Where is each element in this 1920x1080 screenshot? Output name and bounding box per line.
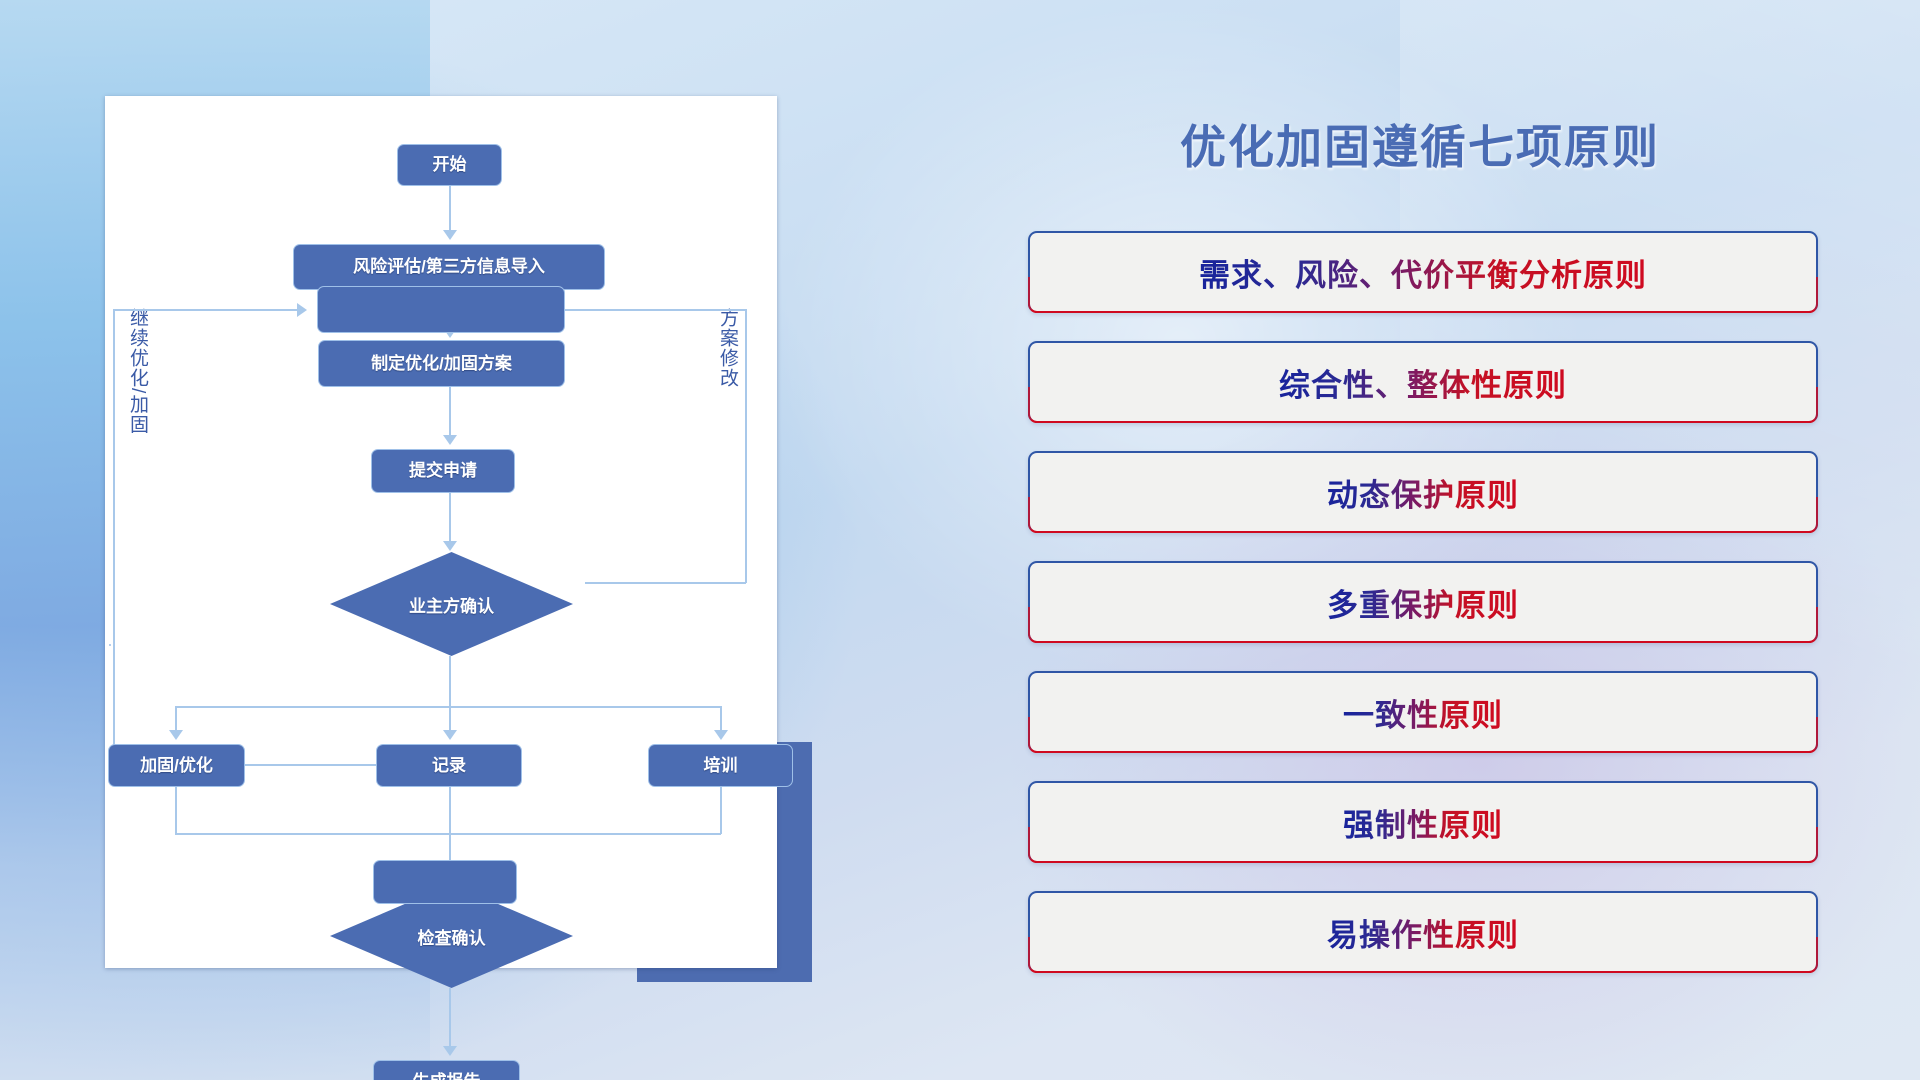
flow-node-training[interactable]: 培训 xyxy=(648,744,793,787)
principle-item-3[interactable]: 动态保护原则 xyxy=(1028,451,1818,533)
flowchart-card: 继续优化/加固 方案修改 开始 风险评估/第三方信息导入 xyxy=(105,96,777,968)
flow-node-make-plan[interactable]: 制定优化/加固方案 xyxy=(318,340,565,387)
principle-item-3-label: 动态保护原则 xyxy=(1327,470,1519,515)
edge-fanout-right-arrow xyxy=(714,730,728,740)
edge-fanin-center xyxy=(449,787,451,834)
flow-node-start[interactable]: 开始 xyxy=(397,144,502,186)
principle-item-1[interactable]: 需求、风险、代价平衡分析原则 xyxy=(1028,231,1818,313)
edge-submit-owner-arrow xyxy=(443,541,457,551)
slide-canvas: 继续优化/加固 方案修改 开始 风险评估/第三方信息导入 xyxy=(0,0,1920,1080)
flow-node-owner-confirm[interactable]: 业主方确认 xyxy=(330,552,573,656)
flow-node-make-plan-label: 制定优化/加固方案 xyxy=(371,354,512,374)
principle-item-7[interactable]: 易操作性原则 xyxy=(1028,891,1818,973)
principle-item-5[interactable]: 一致性原则 xyxy=(1028,671,1818,753)
panel-title: 优化加固遵循七项原则 xyxy=(1020,111,1820,177)
edge-fanout-center-arrow xyxy=(443,730,457,740)
principle-item-4[interactable]: 多重保护原则 xyxy=(1028,561,1818,643)
principles-list: 需求、风险、代价平衡分析原则 综合性、整体性原则 动态保护原则 多重保护原则 一… xyxy=(1028,231,1818,1001)
edge-fanin-right xyxy=(720,787,722,834)
spacer xyxy=(109,644,111,646)
principle-item-1-label: 需求、风险、代价平衡分析原则 xyxy=(1199,250,1647,295)
principle-item-4-label: 多重保护原则 xyxy=(1327,580,1519,625)
edge-label-plan-revision: 方案修改 xyxy=(717,308,737,388)
flow-node-submit-label: 提交申请 xyxy=(409,461,477,481)
loop-right-bottom-horizontal xyxy=(585,582,746,584)
edge-label-continue-optimize: 继续优化/加固 xyxy=(127,308,147,434)
flow-node-record-label: 记录 xyxy=(432,756,466,776)
flow-node-generate-report-label: 生成报告 xyxy=(413,1072,481,1080)
edge-start-risk-arrow xyxy=(443,230,457,240)
edge-owner-fanout-bar xyxy=(175,706,721,708)
flow-node-training-label: 培训 xyxy=(704,756,738,776)
edge-check-report xyxy=(449,988,451,1050)
flow-node-start-label: 开始 xyxy=(433,155,467,175)
edge-fanin-left xyxy=(175,787,177,834)
flow-node-reinforce-optimize[interactable]: 加固/优化 xyxy=(108,744,245,787)
principle-item-6-label: 强制性原则 xyxy=(1343,800,1503,845)
principle-item-2-label: 综合性、整体性原则 xyxy=(1279,360,1567,405)
flow-node-risk-assessment[interactable]: 风险评估/第三方信息导入 xyxy=(293,244,605,290)
flowchart-diagram: 继续优化/加固 方案修改 开始 风险评估/第三方信息导入 xyxy=(105,96,777,968)
loop-right-vertical xyxy=(745,309,747,583)
edge-fanout-left-arrow xyxy=(169,730,183,740)
flow-node-submit-application[interactable]: 提交申请 xyxy=(371,449,515,493)
edge-plan-submit xyxy=(449,387,451,439)
flow-node-record[interactable]: 记录 xyxy=(376,744,522,787)
edge-plan-submit-arrow xyxy=(443,435,457,445)
spacer2 xyxy=(373,860,517,904)
flow-node-check-confirm-label: 检查确认 xyxy=(418,924,486,949)
principle-item-5-label: 一致性原则 xyxy=(1343,690,1503,735)
flow-node-plan-placeholder xyxy=(317,286,565,333)
edge-start-risk xyxy=(449,186,451,234)
loop-left-vertical xyxy=(113,309,115,766)
principle-item-7-label: 易操作性原则 xyxy=(1327,910,1519,955)
flow-node-generate-report[interactable]: 生成报告 xyxy=(373,1060,520,1080)
loop-left-top-horizontal xyxy=(113,309,299,311)
principle-item-2[interactable]: 综合性、整体性原则 xyxy=(1028,341,1818,423)
principle-item-6[interactable]: 强制性原则 xyxy=(1028,781,1818,863)
flow-node-risk-assessment-label: 风险评估/第三方信息导入 xyxy=(353,257,545,277)
loop-left-arrowhead xyxy=(297,303,307,317)
flow-node-owner-confirm-label: 业主方确认 xyxy=(409,592,494,617)
edge-check-report-arrow xyxy=(443,1046,457,1056)
flow-node-reinforce-label: 加固/优化 xyxy=(140,756,213,776)
edge-submit-owner xyxy=(449,493,451,545)
edge-owner-fanout-stem xyxy=(449,656,451,707)
principles-panel: 优化加固遵循七项原则 需求、风险、代价平衡分析原则 综合性、整体性原则 动态保护… xyxy=(1020,96,1820,996)
edge-fanin-bar xyxy=(175,833,721,835)
